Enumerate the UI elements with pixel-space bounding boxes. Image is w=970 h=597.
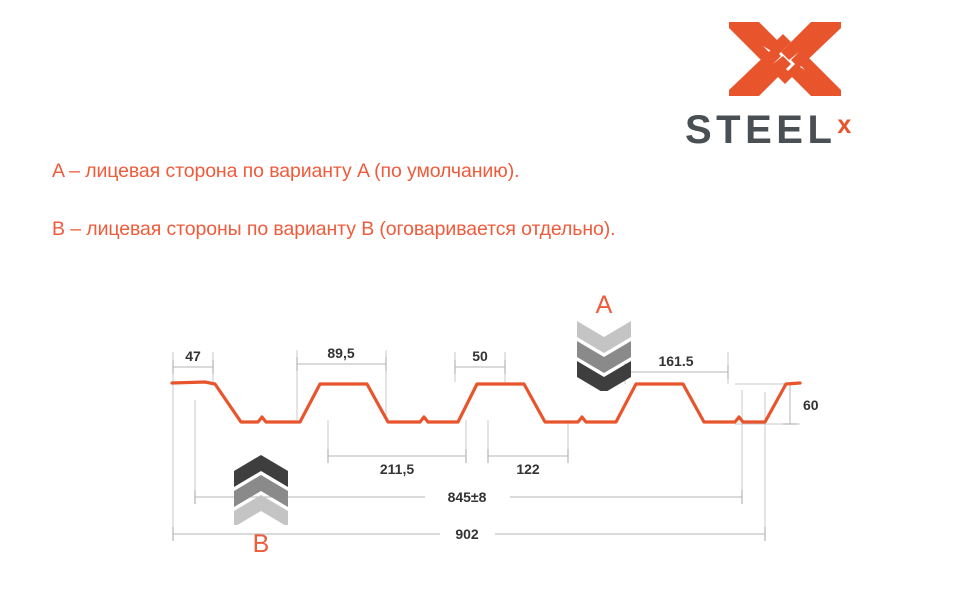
dim-122: 122	[516, 461, 540, 477]
dim-161-5: 161.5	[658, 353, 693, 369]
marker-a-chevrons	[573, 321, 635, 396]
marker-b-chevrons	[230, 455, 292, 530]
dim-50: 50	[472, 348, 488, 364]
marker-a-label: A	[573, 293, 635, 318]
marker-variant-b: B	[230, 455, 292, 553]
profile-outline	[172, 382, 800, 422]
marker-b-label: B	[230, 532, 292, 557]
dim-902: 902	[455, 526, 479, 542]
dim-211-5: 211,5	[380, 461, 414, 477]
dim-60: 60	[803, 397, 819, 413]
marker-variant-a: A	[573, 293, 635, 391]
dim-89-5: 89,5	[327, 345, 354, 361]
profile-cross-section-drawing: 47 89,5 50 161.5 60 211,5 122 845±8 902	[0, 0, 970, 597]
dim-47: 47	[185, 348, 201, 364]
dim-845: 845±8	[448, 489, 487, 505]
